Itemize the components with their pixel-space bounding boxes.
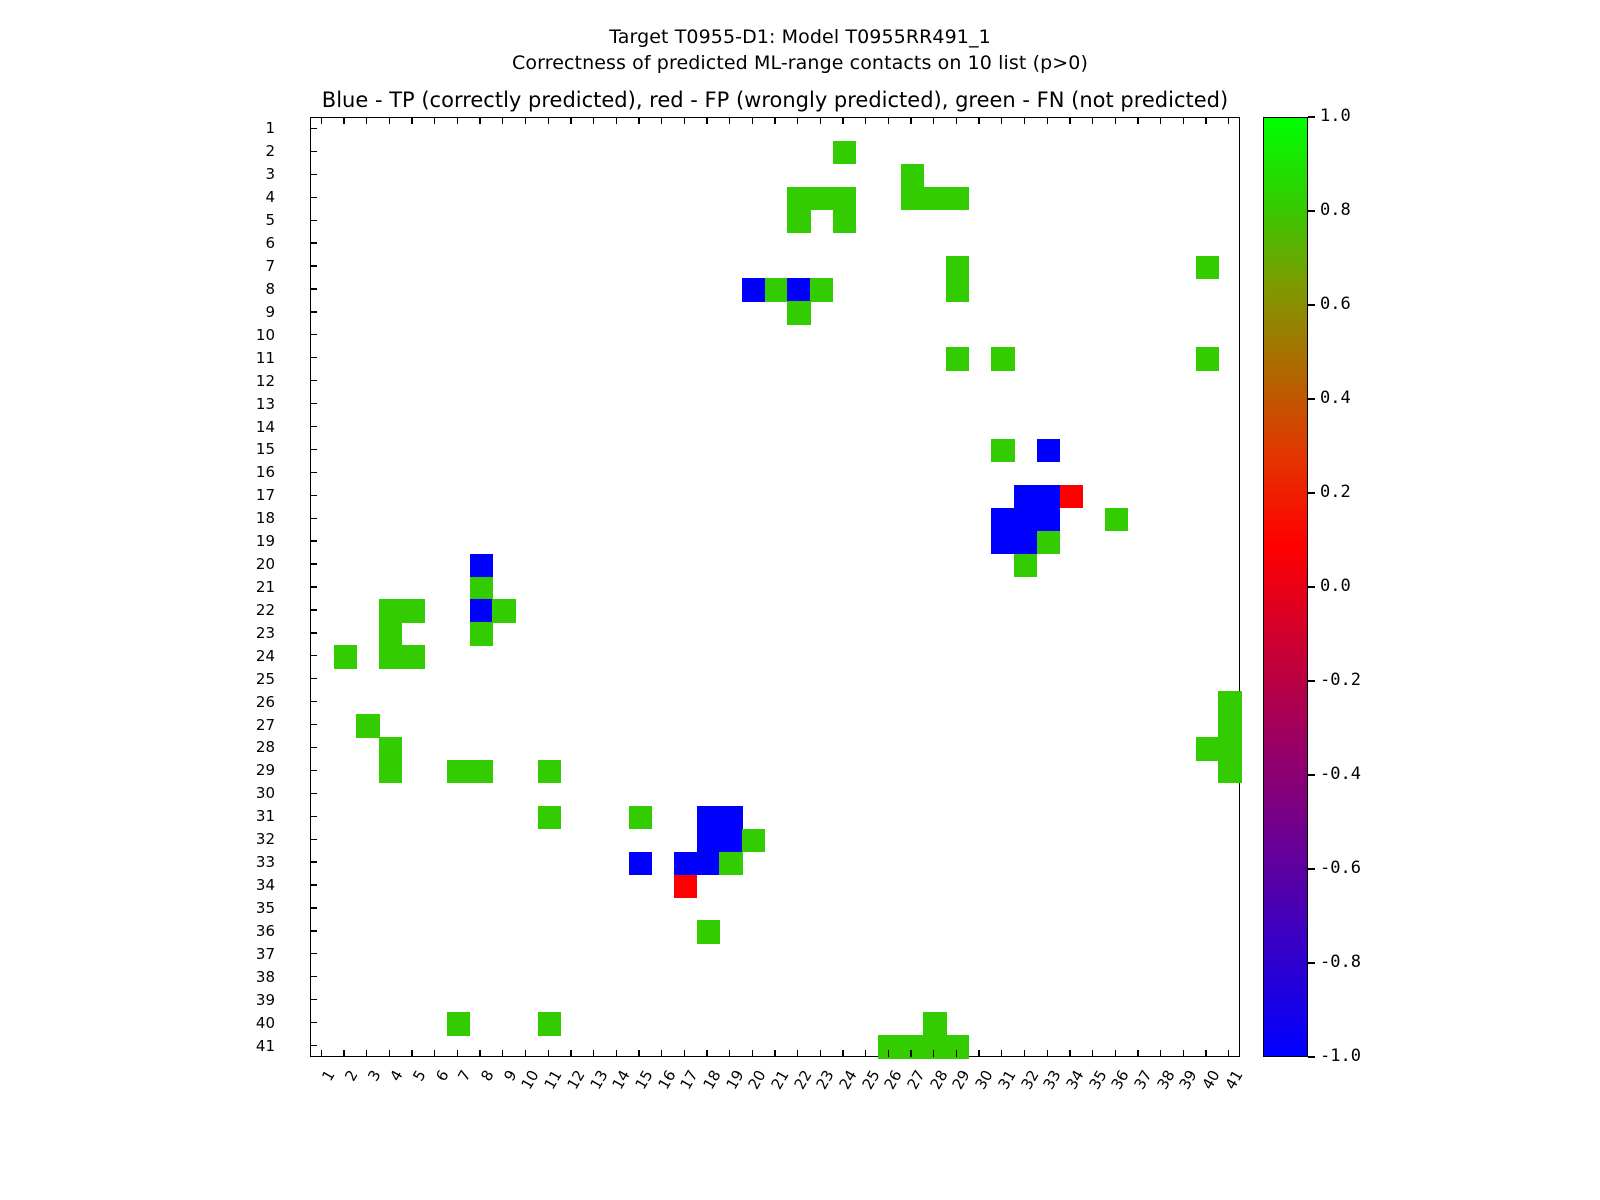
heatmap-cells-layer (311, 118, 1239, 1056)
x-axis-tick-top (479, 117, 480, 124)
heatmap-cell (674, 875, 697, 899)
x-axis-tick-top (570, 117, 571, 124)
heatmap-cell (719, 852, 742, 876)
x-axis-tick-top (616, 117, 617, 124)
heatmap-cell (470, 554, 493, 578)
y-axis-tick (310, 747, 317, 748)
legend-description: Blue - TP (correctly predicted), red - F… (310, 88, 1240, 112)
heatmap-cell (697, 806, 720, 830)
x-axis-tick (865, 1050, 866, 1057)
x-axis-tick (933, 1050, 934, 1057)
y-axis-tick (310, 242, 317, 243)
heatmap-cell (1196, 347, 1219, 371)
heatmap-cell (991, 439, 1014, 463)
y-axis-tick-label: 32 (235, 830, 275, 848)
y-axis-tick-label: 17 (235, 486, 275, 504)
x-axis-tick-top (706, 117, 707, 124)
x-axis-tick-top (525, 117, 526, 124)
heatmap-cell (742, 829, 765, 853)
y-axis-tick (310, 449, 317, 450)
heatmap-cell (923, 187, 946, 211)
y-axis-tick (310, 770, 317, 771)
heatmap-cell (1037, 485, 1060, 509)
y-axis-tick (310, 220, 317, 221)
x-axis-tick-top (888, 117, 889, 124)
x-axis-tick (956, 1050, 957, 1057)
x-axis-tick (616, 1050, 617, 1057)
heatmap-cell (1014, 554, 1037, 578)
y-axis-tick-label: 24 (235, 647, 275, 665)
heatmap-cell (402, 599, 425, 623)
y-axis-tick (310, 265, 317, 266)
x-axis-tick (1092, 1050, 1093, 1057)
colorbar-tick (1308, 962, 1315, 963)
heatmap-cell (810, 187, 833, 211)
x-axis-tick (457, 1050, 458, 1057)
x-axis-tick-top (434, 117, 435, 124)
x-axis-tick-top (933, 117, 934, 124)
colorbar-tick (1308, 586, 1315, 587)
colorbar-tick-label: 0.6 (1320, 294, 1351, 314)
x-axis-tick-top (1228, 117, 1229, 124)
x-axis-tick-top (457, 117, 458, 124)
colorbar-tick-label: -1.0 (1320, 1046, 1361, 1066)
colorbar-tick-label: -0.6 (1320, 858, 1361, 878)
y-axis-tick-label: 38 (235, 968, 275, 986)
y-axis-tick (310, 724, 317, 725)
y-axis-tick (310, 357, 317, 358)
heatmap-cell (923, 1012, 946, 1036)
y-axis-tick-label: 6 (235, 234, 275, 252)
heatmap-cell (538, 1012, 561, 1036)
heatmap-cell (674, 852, 697, 876)
y-axis-tick (310, 907, 317, 908)
y-axis-tick-label: 7 (235, 257, 275, 275)
figure-title: Target T0955-D1: Model T0955RR491_1 Corr… (0, 24, 1600, 76)
x-axis-tick-top (1205, 117, 1206, 124)
heatmap-cell (697, 920, 720, 944)
heatmap-cell (1014, 508, 1037, 532)
x-axis-tick-top (684, 117, 685, 124)
y-axis-tick (310, 839, 317, 840)
heatmap-cell (991, 508, 1014, 532)
colorbar-tick-label: -0.2 (1320, 670, 1361, 690)
heatmap-cell (1218, 760, 1241, 784)
heatmap-cell (901, 164, 924, 188)
x-axis-tick (729, 1050, 730, 1057)
x-axis-tick (502, 1050, 503, 1057)
y-axis-tick (310, 426, 317, 427)
heatmap-cell (1196, 256, 1219, 280)
colorbar-tick (1308, 868, 1315, 869)
colorbar-tick (1308, 492, 1315, 493)
x-axis-tick-top (752, 117, 753, 124)
y-axis-tick (310, 403, 317, 404)
y-axis-tick-label: 36 (235, 922, 275, 940)
y-axis-tick (310, 655, 317, 656)
heatmap-cell (946, 278, 969, 302)
x-axis-tick-top (956, 117, 957, 124)
x-axis-tick-top (1092, 117, 1093, 124)
heatmap-cell (901, 1035, 924, 1059)
x-axis-tick-top (1001, 117, 1002, 124)
x-axis-tick-top (366, 117, 367, 124)
colorbar-tick (1308, 680, 1315, 681)
x-axis-tick-top (321, 117, 322, 124)
x-axis-tick (343, 1050, 344, 1057)
heatmap-cell (1014, 485, 1037, 509)
x-axis-tick-top (865, 117, 866, 124)
x-axis-tick (638, 1050, 639, 1057)
colorbar-tick-label: 0.0 (1320, 576, 1351, 596)
y-axis-tick-label: 18 (235, 509, 275, 527)
y-axis-tick-label: 39 (235, 991, 275, 1009)
y-axis-tick-label: 26 (235, 693, 275, 711)
y-axis-tick-label: 35 (235, 899, 275, 917)
y-axis-tick-label: 21 (235, 578, 275, 596)
heatmap-cell (1037, 439, 1060, 463)
y-axis-tick-label: 33 (235, 853, 275, 871)
x-axis-tick (389, 1050, 390, 1057)
x-axis-tick-top (638, 117, 639, 124)
colorbar-tick (1308, 1056, 1315, 1057)
y-axis-tick (310, 953, 317, 954)
x-axis-tick (1001, 1050, 1002, 1057)
y-axis-tick-label: 11 (235, 349, 275, 367)
y-axis-tick-label: 14 (235, 418, 275, 436)
heatmap-cell (379, 737, 402, 761)
y-axis-tick (310, 678, 317, 679)
y-axis-tick-label: 9 (235, 303, 275, 321)
heatmap-cell (697, 852, 720, 876)
y-axis-tick-label: 23 (235, 624, 275, 642)
colorbar-tick-label: -0.8 (1320, 952, 1361, 972)
x-axis-tick (1228, 1050, 1229, 1057)
heatmap-cell (1014, 531, 1037, 555)
y-axis-tick (310, 1045, 317, 1046)
heatmap-cell (470, 760, 493, 784)
y-axis-tick-label: 27 (235, 716, 275, 734)
x-axis-tick-top (411, 117, 412, 124)
y-axis-tick-label: 10 (235, 326, 275, 344)
y-axis-tick-label: 37 (235, 945, 275, 963)
heatmap-cell (901, 187, 924, 211)
heatmap-cell (1037, 508, 1060, 532)
x-axis-tick (774, 1050, 775, 1057)
x-axis-tick-top (389, 117, 390, 124)
y-axis-tick (310, 197, 317, 198)
y-axis-tick (310, 793, 317, 794)
y-axis-tick (310, 151, 317, 152)
heatmap-cell (470, 599, 493, 623)
heatmap-cell (629, 806, 652, 830)
x-axis-tick-top (910, 117, 911, 124)
x-axis-tick (888, 1050, 889, 1057)
heatmap-cell (787, 278, 810, 302)
y-axis-tick-label: 34 (235, 876, 275, 894)
x-axis-tick-top (774, 117, 775, 124)
x-axis-tick (820, 1050, 821, 1057)
y-axis-tick-label: 28 (235, 738, 275, 756)
x-axis-tick-top (1069, 117, 1070, 124)
heatmap-cell (946, 347, 969, 371)
y-axis-tick (310, 861, 317, 862)
x-axis-tick-top (548, 117, 549, 124)
x-axis-tick (1069, 1050, 1070, 1057)
heatmap-cell (1218, 714, 1241, 738)
x-axis-tick (910, 1050, 911, 1057)
y-axis-tick (310, 495, 317, 496)
x-axis-tick (661, 1050, 662, 1057)
x-axis-tick (411, 1050, 412, 1057)
heatmap-cell (787, 301, 810, 325)
x-axis-tick (842, 1050, 843, 1057)
x-axis-tick (366, 1050, 367, 1057)
y-axis-tick (310, 976, 317, 977)
x-axis-tick (978, 1050, 979, 1057)
heatmap-cell (946, 187, 969, 211)
y-axis-tick-label: 22 (235, 601, 275, 619)
colorbar-gradient (1264, 118, 1307, 1056)
heatmap-cell (742, 278, 765, 302)
heatmap-cell (470, 577, 493, 601)
heatmap-cell (833, 187, 856, 211)
heatmap-cell (765, 278, 788, 302)
y-axis-tick (310, 472, 317, 473)
colorbar-tick-label: 1.0 (1320, 106, 1351, 126)
heatmap-cell (334, 645, 357, 669)
x-axis-tick (1024, 1050, 1025, 1057)
y-axis-tick (310, 930, 317, 931)
heatmap-cell (719, 806, 742, 830)
y-axis-tick (310, 540, 317, 541)
heatmap-cell (697, 829, 720, 853)
y-axis-tick-label: 29 (235, 761, 275, 779)
x-axis-tick-top (593, 117, 594, 124)
heatmap-cell (1196, 737, 1219, 761)
colorbar-tick (1308, 398, 1315, 399)
x-axis-tick (1160, 1050, 1161, 1057)
y-axis-tick (310, 632, 317, 633)
x-axis-tick-top (1047, 117, 1048, 124)
heatmap-cell (447, 760, 470, 784)
y-axis-tick-label: 25 (235, 670, 275, 688)
y-axis-tick (310, 609, 317, 610)
colorbar-tick-label: 0.2 (1320, 482, 1351, 502)
heatmap-cell (470, 622, 493, 646)
x-axis-tick-top (797, 117, 798, 124)
heatmap-axes (310, 117, 1240, 1057)
y-axis-tick (310, 816, 317, 817)
heatmap-cell (810, 278, 833, 302)
heatmap-cell (1218, 737, 1241, 761)
x-axis-tick (570, 1050, 571, 1057)
heatmap-cell (447, 1012, 470, 1036)
heatmap-cell (787, 187, 810, 211)
heatmap-cell (1037, 531, 1060, 555)
y-axis-tick (310, 288, 317, 289)
x-axis-tick-top (1024, 117, 1025, 124)
heatmap-cell (492, 599, 515, 623)
x-axis-tick-top (1137, 117, 1138, 124)
y-axis-tick (310, 128, 317, 129)
x-axis-tick (1115, 1050, 1116, 1057)
x-axis-tick (593, 1050, 594, 1057)
y-axis-tick (310, 518, 317, 519)
x-axis-tick-top (661, 117, 662, 124)
y-axis-tick-label: 1 (235, 119, 275, 137)
title-line-1: Target T0955-D1: Model T0955RR491_1 (0, 24, 1600, 50)
x-axis-tick-top (1183, 117, 1184, 124)
heatmap-cell (356, 714, 379, 738)
colorbar-tick (1308, 210, 1315, 211)
y-axis-tick (310, 174, 317, 175)
y-axis-tick-label: 15 (235, 440, 275, 458)
y-axis-tick (310, 884, 317, 885)
y-axis-tick (310, 1022, 317, 1023)
colorbar-tick (1308, 774, 1315, 775)
axes-subtitle: Blue - TP (correctly predicted), red - F… (310, 88, 1240, 112)
y-axis-tick-label: 30 (235, 784, 275, 802)
heatmap-cell (538, 806, 561, 830)
x-axis-tick (1047, 1050, 1048, 1057)
heatmap-cell (946, 1035, 969, 1059)
y-axis-tick-label: 8 (235, 280, 275, 298)
colorbar-tick (1308, 304, 1315, 305)
heatmap-cell (946, 256, 969, 280)
colorbar-tick-label: -0.4 (1320, 764, 1361, 784)
title-line-2: Correctness of predicted ML-range contac… (0, 50, 1600, 76)
heatmap-cell (878, 1035, 901, 1059)
heatmap-cell (1060, 485, 1083, 509)
x-axis-tick (752, 1050, 753, 1057)
heatmap-cell (1218, 691, 1241, 715)
y-axis-tick (310, 999, 317, 1000)
y-axis-tick-label: 16 (235, 463, 275, 481)
heatmap-cell (833, 210, 856, 234)
heatmap-cell (379, 599, 402, 623)
x-axis-tick (321, 1050, 322, 1057)
y-axis-tick-label: 40 (235, 1014, 275, 1032)
x-axis-tick (434, 1050, 435, 1057)
heatmap-cell (719, 829, 742, 853)
heatmap-cell (1105, 508, 1128, 532)
contact-map-figure: Target T0955-D1: Model T0955RR491_1 Corr… (0, 0, 1600, 1200)
x-axis-tick-top (729, 117, 730, 124)
y-axis-tick-label: 41 (235, 1037, 275, 1055)
x-axis-tick (684, 1050, 685, 1057)
x-axis-tick-top (1160, 117, 1161, 124)
x-axis-tick-top (978, 117, 979, 124)
y-axis-tick-label: 4 (235, 188, 275, 206)
x-axis-tick (1183, 1050, 1184, 1057)
y-axis-tick (310, 380, 317, 381)
colorbar-tick-label: 0.4 (1320, 388, 1351, 408)
y-axis-tick-label: 3 (235, 165, 275, 183)
colorbar-tick-label: 0.8 (1320, 200, 1351, 220)
y-axis-tick-label: 31 (235, 807, 275, 825)
x-axis-tick-top (820, 117, 821, 124)
y-axis-tick (310, 311, 317, 312)
colorbar-tick (1308, 116, 1315, 117)
x-axis-tick-top (1115, 117, 1116, 124)
heatmap-cell (833, 141, 856, 165)
colorbar (1263, 117, 1308, 1057)
y-axis-tick-label: 5 (235, 211, 275, 229)
y-axis-tick-label: 19 (235, 532, 275, 550)
x-axis-tick (706, 1050, 707, 1057)
heatmap-cell (538, 760, 561, 784)
x-axis-tick (797, 1050, 798, 1057)
x-axis-tick (1205, 1050, 1206, 1057)
x-axis-tick (479, 1050, 480, 1057)
y-axis-tick (310, 586, 317, 587)
x-axis-tick (525, 1050, 526, 1057)
heatmap-cell (991, 347, 1014, 371)
heatmap-cell (923, 1035, 946, 1059)
x-axis-tick (548, 1050, 549, 1057)
y-axis-tick-label: 13 (235, 395, 275, 413)
y-axis-tick (310, 334, 317, 335)
y-axis-tick-label: 20 (235, 555, 275, 573)
y-axis-tick-label: 2 (235, 142, 275, 160)
x-axis-tick (1137, 1050, 1138, 1057)
x-axis-tick-top (343, 117, 344, 124)
heatmap-cell (402, 645, 425, 669)
heatmap-cell (379, 645, 402, 669)
y-axis-tick (310, 701, 317, 702)
heatmap-cell (379, 760, 402, 784)
y-axis-tick (310, 563, 317, 564)
x-axis-tick-top (502, 117, 503, 124)
heatmap-cell (787, 210, 810, 234)
heatmap-cell (629, 852, 652, 876)
heatmap-cell (991, 531, 1014, 555)
y-axis-tick-label: 12 (235, 372, 275, 390)
x-axis-tick-top (842, 117, 843, 124)
heatmap-cell (379, 622, 402, 646)
